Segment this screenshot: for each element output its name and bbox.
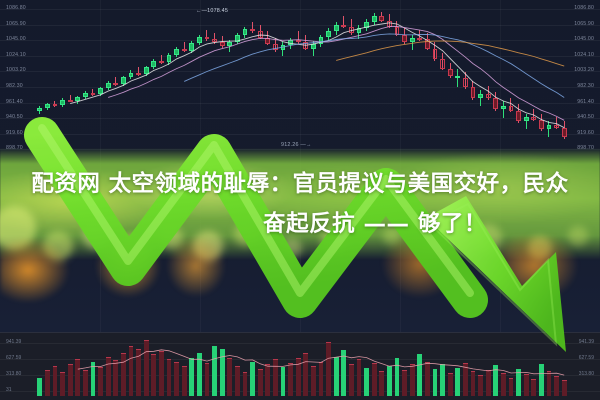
candle-body (357, 28, 362, 33)
candle-body (433, 49, 438, 60)
candlestick (265, 31, 270, 45)
volume-bar (227, 358, 232, 396)
candlestick (554, 117, 559, 129)
volume-bar (478, 375, 483, 396)
candle-body (554, 125, 559, 128)
volume-bar (288, 363, 293, 396)
volume-bar (243, 372, 248, 396)
volume-bar (68, 364, 73, 396)
candlestick (68, 95, 73, 102)
candlestick (440, 53, 445, 70)
candle-body (265, 38, 270, 44)
candle-body (151, 61, 156, 67)
candlestick (364, 19, 369, 31)
price-axis-tick: 1065.90 (574, 22, 594, 27)
volume-bar (539, 364, 544, 396)
volume-bar (440, 364, 445, 396)
candle-body (319, 37, 324, 44)
candlestick (159, 55, 164, 64)
candle-body (106, 83, 111, 88)
price-axis-tick: 940.50 (6, 115, 23, 120)
candle-body (562, 128, 567, 137)
candlestick (83, 91, 88, 99)
volume-bar (296, 358, 301, 396)
candle-body (509, 106, 514, 111)
candle-body (410, 38, 415, 43)
volume-bar (349, 364, 354, 396)
candle-body (341, 25, 346, 27)
candle-body (471, 87, 476, 98)
candlestick (91, 89, 96, 96)
candle-body (60, 100, 65, 105)
volume-bar (75, 359, 80, 396)
candle-body (129, 73, 134, 78)
candle-body (493, 98, 498, 109)
candlestick (53, 101, 58, 107)
candle-body (144, 67, 149, 74)
volume-bar (197, 353, 202, 396)
volume-bar (281, 367, 286, 396)
volume-axis-tick: 313.80 (579, 372, 594, 377)
volume-bar (258, 369, 263, 396)
candle-body (212, 39, 217, 42)
candlestick (311, 41, 316, 57)
candlestick (493, 92, 498, 111)
volume-bar (448, 373, 453, 396)
candlestick (319, 35, 324, 47)
candle-body (501, 106, 506, 109)
candlestick (509, 98, 514, 112)
volume-bar (311, 366, 316, 396)
volume-bar (129, 346, 134, 396)
volume-bar (402, 370, 407, 396)
candlestick (129, 70, 134, 79)
candlestick (167, 53, 172, 65)
candle-body (486, 94, 491, 99)
candlestick (113, 77, 118, 86)
candlestick (395, 21, 400, 37)
candlestick (417, 30, 422, 41)
volume-bar (387, 366, 392, 396)
candlestick (531, 109, 536, 121)
headline-line-2: 奋起反抗 —— 够了！ (0, 204, 600, 244)
volume-bar (136, 349, 141, 396)
candlestick (60, 98, 65, 107)
price-axis-tick: 1003.20 (574, 68, 594, 73)
candlestick (433, 42, 438, 61)
candle-body (113, 83, 118, 85)
volume-bar (433, 369, 438, 396)
volume-bar (341, 350, 346, 396)
candlestick (75, 96, 80, 105)
candle-body (379, 16, 384, 21)
candlestick (463, 72, 468, 89)
candle-body (98, 88, 103, 94)
price-axis-tick: 982.30 (577, 84, 594, 89)
candle-body (197, 37, 202, 43)
candlestick (273, 38, 278, 52)
candlestick (562, 121, 567, 138)
candle-body (364, 22, 369, 28)
candlestick (243, 27, 248, 38)
candlestick (349, 19, 354, 35)
headline-text: 配资网 太空领域的耻辱：官员提议与美国交好，民众 奋起反抗 —— 够了！ (0, 164, 600, 244)
candlestick (524, 114, 529, 130)
volume-bar (265, 364, 270, 396)
volume-bar (554, 376, 559, 396)
volume-bar (509, 378, 514, 396)
orange-light-wash (0, 236, 600, 328)
volume-chart-panel: 941.39627.59313.8031 941.39627.59313.80 (0, 332, 600, 400)
candle-body (182, 49, 187, 51)
volume-bar (379, 371, 384, 396)
candle-body (372, 16, 377, 22)
candlestick (37, 106, 42, 114)
volume-bar (395, 358, 400, 396)
candle-body (334, 25, 339, 30)
candlestick (486, 86, 491, 100)
candlestick (372, 13, 377, 25)
candlestick (448, 63, 453, 79)
volume-bar (106, 357, 111, 396)
candle-body (463, 78, 468, 87)
volume-axis-tick: 941.39 (6, 340, 21, 345)
candle-body (531, 117, 536, 120)
candle-body (45, 104, 50, 107)
candlestick (212, 33, 217, 44)
gridline (0, 343, 600, 344)
candle-body (387, 21, 392, 27)
volume-bar (182, 366, 187, 396)
candlestick (547, 121, 552, 137)
candlestick (136, 67, 141, 76)
candle-wick (503, 101, 504, 118)
candlestick (296, 31, 301, 43)
volume-bar (410, 364, 415, 396)
candle-body (250, 29, 255, 31)
candlestick (250, 22, 255, 33)
volume-bar (159, 351, 164, 396)
screenshot-root: 1086.801065.901045.001024.101003.20982.3… (0, 0, 600, 400)
volume-bar (113, 360, 118, 396)
volume-bar (547, 371, 552, 396)
candlestick (45, 103, 50, 110)
candle-body (402, 35, 407, 43)
candle-body (121, 77, 126, 84)
candlestick (539, 114, 544, 131)
volume-bar (463, 363, 468, 396)
volume-bar (212, 346, 217, 396)
candle-body (440, 59, 445, 68)
price-axis-tick: 982.30 (6, 84, 23, 89)
candle-body (303, 42, 308, 48)
candle-body (524, 117, 529, 122)
volume-bar (174, 362, 179, 396)
volume-bar (531, 379, 536, 396)
candlestick (425, 33, 430, 50)
candle-body (326, 31, 331, 37)
candlestick (402, 28, 407, 44)
candle-body (417, 38, 422, 40)
candle-body (288, 40, 293, 45)
volume-bar (486, 370, 491, 396)
volume-axis-tick: 31 (6, 388, 12, 393)
price-axis-tick: 1086.80 (6, 6, 26, 11)
price-axis-tick: 1003.20 (6, 68, 26, 73)
volume-bar (326, 342, 331, 396)
volume-bar (372, 363, 377, 396)
candle-body (227, 42, 232, 47)
candle-body (235, 35, 240, 41)
volume-bar (235, 366, 240, 396)
candle-body (174, 49, 179, 54)
candlestick (258, 25, 263, 39)
candle-body (258, 31, 263, 37)
headline-line-1: 配资网 太空领域的耻辱：官员提议与美国交好，民众 (0, 164, 600, 204)
candlestick (281, 42, 286, 56)
volume-bar (91, 362, 96, 396)
volume-bar (524, 374, 529, 396)
candle-body (425, 39, 430, 48)
candle-body (547, 125, 552, 130)
candle-body (448, 69, 453, 77)
candlestick (455, 69, 460, 88)
candlestick (326, 28, 331, 40)
candlestick (288, 38, 293, 50)
candle-body (243, 29, 248, 35)
volume-bar (562, 380, 567, 396)
volume-bar (144, 340, 149, 396)
candle-body (205, 37, 210, 39)
candlestick (303, 35, 308, 51)
volume-bar (455, 368, 460, 396)
volume-bar (37, 378, 42, 396)
volume-bar (220, 349, 225, 396)
candle-body (83, 93, 88, 98)
candle-body (349, 27, 354, 33)
candlestick (357, 25, 362, 39)
price-axis-tick: 1024.10 (574, 53, 594, 58)
candle-body (281, 45, 286, 50)
price-axis-tick: 919.60 (577, 131, 594, 136)
price-axis-tick: 1065.90 (6, 22, 26, 27)
volume-bar (189, 358, 194, 396)
candlestick (189, 41, 194, 53)
volume-bar (60, 372, 65, 396)
candle-body (53, 104, 58, 106)
candlestick (220, 36, 225, 48)
candle-body (273, 44, 278, 50)
volume-bar (205, 363, 210, 396)
candlestick (471, 81, 476, 100)
candle-body (159, 61, 164, 63)
volume-bar (417, 354, 422, 396)
candle-body (167, 55, 172, 63)
candle-body (478, 94, 483, 99)
volume-bar (167, 359, 172, 396)
candlestick (106, 81, 111, 90)
price-axis-tick: 1086.80 (574, 6, 594, 11)
candlestick (379, 12, 384, 22)
volume-bar (334, 357, 339, 396)
volume-bar (121, 353, 126, 396)
volume-bar (151, 354, 156, 396)
candlestick (410, 35, 415, 51)
volume-bar (501, 373, 506, 396)
candle-body (189, 43, 194, 51)
volume-bar (319, 362, 324, 396)
candlestick (174, 47, 179, 57)
volume-bar (357, 359, 362, 396)
volume-bar (53, 366, 58, 396)
candle-body (68, 100, 73, 102)
price-axis-tick: 919.60 (6, 131, 23, 136)
candle-body (75, 97, 80, 101)
candlestick (197, 35, 202, 46)
volume-bar (516, 369, 521, 396)
volume-axis-tick: 941.39 (579, 340, 594, 345)
candlestick (121, 76, 126, 86)
candlestick (98, 87, 103, 96)
price-axis-tick: 961.40 (577, 100, 594, 105)
candle-body (136, 73, 141, 75)
volume-axis-tick: 627.59 (579, 356, 594, 361)
candle-body (37, 108, 42, 111)
volume-bar (45, 370, 50, 396)
volume-bar (425, 362, 430, 396)
volume-bar (303, 353, 308, 396)
candlestick (227, 40, 232, 52)
high-marker: ←—1078.45 (196, 9, 228, 14)
candle-body (539, 120, 544, 129)
candle-body (91, 93, 96, 95)
volume-bar (273, 359, 278, 396)
price-axis-tick: 1045.00 (6, 37, 26, 42)
candlestick (182, 42, 187, 52)
candle-body (516, 111, 521, 122)
candle-body (220, 42, 225, 46)
candlestick (387, 14, 392, 28)
candlestick (144, 66, 149, 76)
candle-body (296, 40, 301, 42)
candlestick (478, 90, 483, 106)
price-axis-tick: 1045.00 (574, 37, 594, 42)
candle-body (311, 44, 316, 49)
candlestick (341, 16, 346, 28)
candlestick (334, 22, 339, 34)
candlestick (235, 33, 240, 44)
volume-bar (493, 365, 498, 396)
volume-bar (471, 371, 476, 396)
candlestick (205, 30, 210, 41)
candle-body (455, 76, 460, 78)
volume-bar (98, 367, 103, 396)
price-axis-tick: 940.50 (577, 115, 594, 120)
price-axis-tick: 1024.10 (6, 53, 26, 58)
volume-bar (83, 370, 88, 396)
volume-bar (364, 368, 369, 396)
candlestick (151, 59, 156, 69)
volume-axis-tick: 313.80 (6, 372, 21, 377)
volume-axis-tick: 627.59 (6, 356, 21, 361)
candlestick (516, 104, 521, 123)
price-axis-tick: 961.40 (6, 100, 23, 105)
candle-body (395, 27, 400, 35)
candlestick (501, 101, 506, 118)
volume-bar (250, 362, 255, 396)
